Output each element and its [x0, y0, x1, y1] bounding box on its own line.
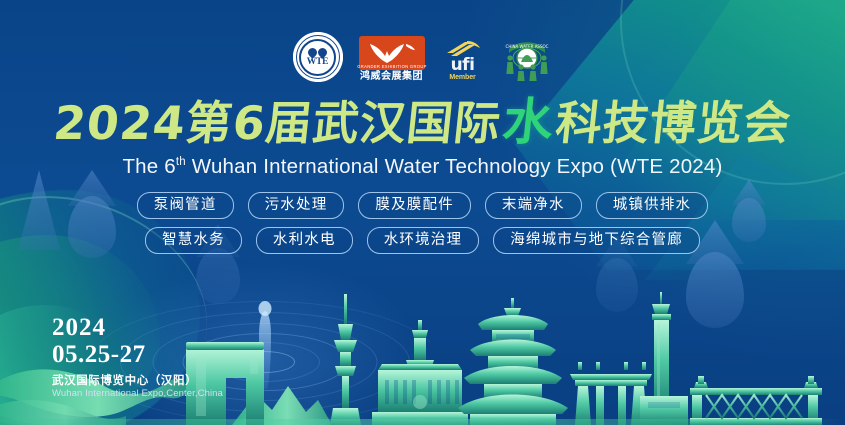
two-hearts-roundel-icon	[308, 48, 327, 57]
category-pill-group: 泵阀管道 污水处理 膜及膜配件 末端净水 城镇供排水 智慧水务 水利水电 水环境…	[0, 192, 845, 262]
category-pill[interactable]: 智慧水务	[145, 227, 242, 254]
w-wings-icon	[368, 42, 416, 64]
category-pill[interactable]: 泵阀管道	[137, 192, 234, 219]
guishan-tv-tower	[330, 294, 361, 425]
ufi-logo-subtitle: Member	[441, 74, 485, 82]
category-pill[interactable]: 城镇供排水	[596, 192, 709, 219]
wte-logo-acronym: WTE	[307, 58, 329, 68]
event-date-venue-block: 2024 05.25-27 武汉国际博览中心（汉阳） Wuhan Interna…	[52, 315, 223, 400]
category-row-2: 智慧水务 水利水电 水环境治理 海绵城市与地下综合管廊	[0, 227, 845, 254]
wte-logo[interactable]: WTE	[293, 32, 343, 82]
skyline-baseline	[0, 419, 845, 425]
headline-suffix: 科技博览会	[553, 96, 794, 150]
category-pill[interactable]: 膜及膜配件	[358, 192, 471, 219]
hongwei-logo-latin: GRANDER EXHIBITION GROUP	[339, 65, 445, 70]
category-pill[interactable]: 污水处理	[248, 192, 345, 219]
subtitle-ordinal: th	[176, 156, 186, 168]
wuhan-university-old-library	[372, 320, 468, 425]
category-pill[interactable]: 末端净水	[485, 192, 582, 219]
headline-prefix: 2024第6届武汉国际	[51, 96, 504, 150]
ufi-member-logo[interactable]: ufi Member	[441, 40, 485, 82]
event-year: 2024	[52, 315, 223, 341]
yellow-crane-tower	[458, 298, 568, 425]
venue-name-chinese: 武汉国际博览中心（汉阳）	[52, 375, 223, 389]
headline-block: 2024第6届武汉国际水科技博览会 The 6th Wuhan Internat…	[0, 97, 845, 179]
hongshan-tower	[640, 292, 688, 425]
subtitle-pre: The 6	[122, 155, 175, 178]
category-row-1: 泵阀管道 污水处理 膜及膜配件 末端净水 城镇供排水	[0, 192, 845, 219]
category-pill[interactable]: 水环境治理	[367, 227, 480, 254]
hongwei-logo-chinese: 鸿威会展集团	[359, 72, 425, 82]
yangtze-river-bridge	[690, 376, 822, 425]
ufi-logo-word: ufi	[441, 57, 485, 74]
headline-subtitle: The 6th Wuhan International Water Techno…	[0, 155, 845, 179]
category-pill[interactable]: 海绵城市与地下综合管廊	[493, 227, 700, 254]
category-pill[interactable]: 水利水电	[256, 227, 353, 254]
event-dates: 05.25-27	[52, 342, 223, 368]
expo-banner: WTE GRANDER EXHIBITION GROUP 鸿威会展集团	[0, 0, 845, 425]
gateway-arch	[570, 362, 652, 425]
people-around-globe-icon: CHINA WATER ASSOC	[501, 34, 553, 82]
sponsor-logo-row: WTE GRANDER EXHIBITION GROUP 鸿威会展集团	[0, 32, 845, 82]
headline-water-character: 水	[498, 93, 559, 151]
subtitle-post: Wuhan International Water Technology Exp…	[186, 155, 723, 178]
hongwei-exhibition-group-logo[interactable]: GRANDER EXHIBITION GROUP 鸿威会展集团	[359, 36, 425, 82]
venue-name-english: Wuhan International Expo,Center,China	[52, 388, 223, 399]
green-association-logo[interactable]: CHINA WATER ASSOC	[501, 34, 553, 82]
